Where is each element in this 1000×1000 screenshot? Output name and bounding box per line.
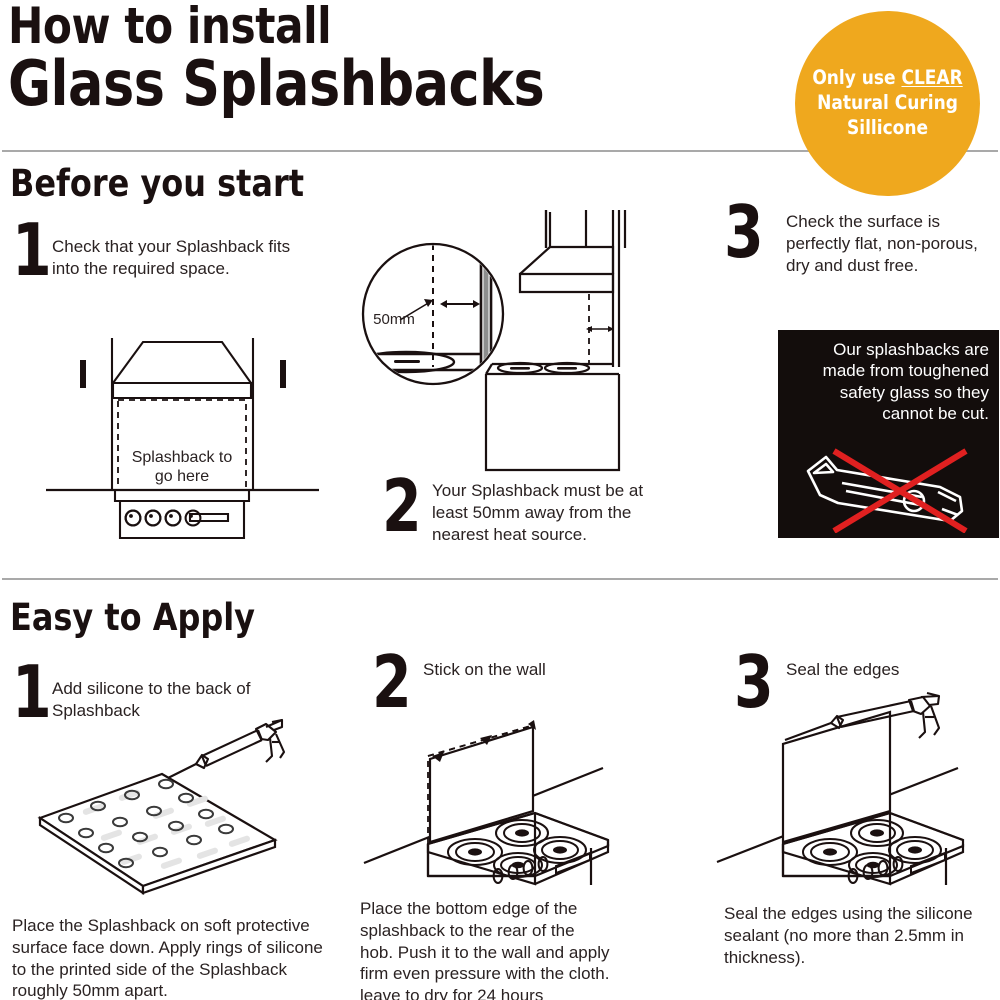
clear-silicone-badge: Only use CLEAR Natural Curing Sillicone	[795, 11, 980, 196]
badge-line-2: Natural Curing	[817, 91, 958, 114]
figure-b1-label-line1: Splashback to	[132, 449, 233, 466]
figure-a3-seal-the-edges	[715, 680, 1000, 885]
badge-line-1-pre: Only use	[812, 66, 901, 89]
step-number-b3: 3	[724, 204, 764, 262]
caption-a3: Seal the edges using the silicone sealan…	[724, 903, 989, 968]
step-number-b1: 1	[12, 222, 52, 280]
step-text-b3: Check the surface is perfectly flat, non…	[786, 211, 1000, 276]
title-line-1: How to install	[8, 2, 544, 51]
warning-panel-text: Our splashbacks are made from toughened …	[788, 339, 989, 425]
utility-knife-crossed-out-icon	[790, 445, 990, 533]
step-text-b1: Check that your Splashback fits into the…	[52, 236, 302, 280]
step-number-b2: 2	[382, 478, 422, 536]
section-heading-before-you-start: Before you start	[10, 162, 304, 205]
figure-a1-silicone-rings-panel	[20, 718, 340, 903]
figure-b1-label-line2: go here	[155, 468, 209, 485]
instruction-sheet: How to install Glass Splashbacks Only us…	[0, 0, 1000, 1000]
figure-b1-wall-elevation: Splashback to go here	[40, 320, 325, 545]
figure-a2-stick-on-wall	[360, 680, 700, 885]
figure-b2-clearance-detail: 50mm	[360, 202, 700, 477]
caption-a2: Place the bottom edge of the splashback …	[360, 898, 610, 1000]
step-number-a1: 1	[12, 664, 52, 722]
caption-a1: Place the Splashback on soft protective …	[12, 915, 332, 1000]
page-title: How to install Glass Splashbacks	[8, 2, 579, 115]
warning-panel-cannot-be-cut: Our splashbacks are made from toughened …	[778, 330, 999, 538]
title-line-2: Glass Splashbacks	[8, 54, 544, 115]
step-text-a2: Stick on the wall	[423, 659, 643, 681]
divider-middle	[2, 578, 998, 580]
figure-b2-label-50mm: 50mm	[373, 311, 415, 328]
badge-line-3: Sillicone	[847, 116, 928, 139]
badge-line-1-emphasis: CLEAR	[901, 66, 962, 89]
section-heading-easy-to-apply: Easy to Apply	[10, 596, 255, 639]
step-text-b2: Your Splashback must be at least 50mm aw…	[432, 480, 682, 545]
step-text-a1: Add silicone to the back of Splashback	[52, 678, 262, 722]
step-text-a3: Seal the edges	[786, 659, 1000, 681]
badge-text: Only use CLEAR Natural Curing Sillicone	[812, 66, 962, 141]
